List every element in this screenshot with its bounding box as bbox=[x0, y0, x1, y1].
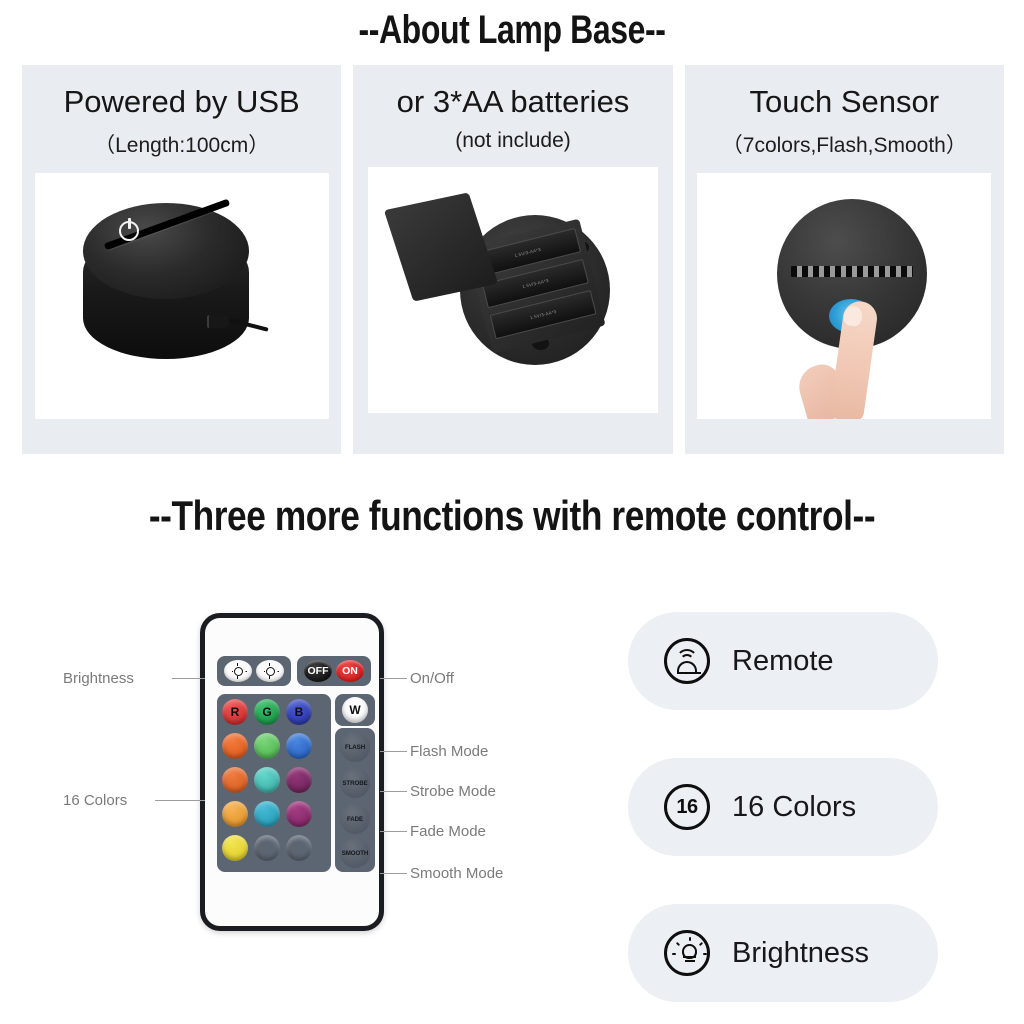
feature-pill-16-colors[interactable]: 16 16 Colors bbox=[628, 758, 938, 856]
panel-subtitle: （Length:100cm） bbox=[94, 129, 269, 159]
leader-line bbox=[172, 678, 205, 679]
color-button[interactable] bbox=[286, 767, 312, 793]
callout-strobe-mode: Strobe Mode bbox=[410, 783, 496, 800]
color-button-white[interactable]: W bbox=[342, 697, 368, 723]
panel-powered-by-usb: Powered by USB （Length:100cm） bbox=[22, 65, 341, 454]
led-strip bbox=[791, 266, 913, 277]
remote-control[interactable]: OFF ON R G B W FLASH STROBE FADE SMOOTH bbox=[200, 613, 384, 931]
feature-label: Remote bbox=[732, 645, 834, 678]
callout-on-off: On/Off bbox=[410, 670, 454, 687]
color-button[interactable] bbox=[222, 767, 248, 793]
panel-aa-batteries: or 3*AA batteries (not include) 1.5V/3-A… bbox=[353, 65, 672, 454]
page-title: --About Lamp Base-- bbox=[102, 8, 921, 53]
feature-pill-brightness[interactable]: Brightness bbox=[628, 904, 938, 1002]
leader-line bbox=[380, 873, 407, 874]
callout-fade-mode: Fade Mode bbox=[410, 823, 486, 840]
leader-line bbox=[380, 831, 407, 832]
usb-plug bbox=[207, 315, 229, 328]
section-title: --Three more functions with remote contr… bbox=[82, 492, 942, 540]
power-button-group: OFF ON bbox=[297, 656, 371, 686]
light-bulb-icon bbox=[664, 930, 710, 976]
flash-mode-button[interactable]: FLASH bbox=[340, 732, 370, 762]
color-button[interactable] bbox=[222, 835, 248, 861]
color-button[interactable] bbox=[286, 835, 312, 861]
lamp-base-touch-photo bbox=[697, 173, 991, 419]
lamp-base-panels: Powered by USB （Length:100cm） or 3*AA ba… bbox=[22, 65, 1004, 454]
callout-smooth-mode: Smooth Mode bbox=[410, 865, 503, 882]
feature-label: 16 Colors bbox=[732, 791, 856, 824]
lamp-base-battery-photo: 1.5V/3-AA*3 1.5V/3-AA*3 1.5V/3-AA*3 bbox=[368, 167, 658, 413]
remote-signal-icon bbox=[664, 638, 710, 684]
lamp-base-usb-photo bbox=[35, 173, 329, 419]
panel-title: or 3*AA batteries bbox=[397, 85, 630, 119]
color-button-red[interactable]: R bbox=[222, 699, 248, 725]
callout-16-colors: 16 Colors bbox=[63, 792, 127, 809]
power-button-icon bbox=[119, 221, 139, 241]
strobe-mode-button[interactable]: STROBE bbox=[340, 768, 370, 798]
brightness-up-button[interactable] bbox=[224, 660, 252, 682]
feature-label: Brightness bbox=[732, 937, 869, 970]
fade-mode-button[interactable]: FADE bbox=[340, 804, 370, 834]
leader-line bbox=[380, 678, 407, 679]
leader-line bbox=[380, 751, 407, 752]
leader-line bbox=[155, 800, 205, 801]
color-button[interactable] bbox=[222, 733, 248, 759]
white-button-group: W bbox=[335, 694, 375, 726]
color-button[interactable] bbox=[254, 767, 280, 793]
color-button-grid: R G B bbox=[217, 694, 331, 872]
panel-title: Touch Sensor bbox=[750, 85, 940, 119]
power-off-button[interactable]: OFF bbox=[304, 660, 332, 682]
panel-subtitle: （7colors,Flash,Smooth） bbox=[722, 129, 967, 159]
sixteen-badge-text: 16 bbox=[667, 787, 707, 827]
color-button[interactable] bbox=[286, 733, 312, 759]
feature-pill-remote[interactable]: Remote bbox=[628, 612, 938, 710]
power-on-button[interactable]: ON bbox=[336, 660, 364, 682]
color-button[interactable] bbox=[254, 835, 280, 861]
panel-title: Powered by USB bbox=[64, 85, 300, 119]
color-button[interactable] bbox=[254, 801, 280, 827]
color-button[interactable] bbox=[286, 801, 312, 827]
brightness-down-button[interactable] bbox=[256, 660, 284, 682]
mode-button-group: FLASH STROBE FADE SMOOTH bbox=[335, 728, 375, 872]
sixteen-circle-icon: 16 bbox=[664, 784, 710, 830]
lamp-base-top-surface bbox=[83, 203, 249, 299]
callout-brightness: Brightness bbox=[63, 670, 134, 687]
panel-subtitle: (not include) bbox=[455, 129, 571, 153]
brightness-button-group bbox=[217, 656, 291, 686]
brightness-up-icon bbox=[234, 667, 243, 676]
color-button-blue[interactable]: B bbox=[286, 699, 312, 725]
color-button[interactable] bbox=[254, 733, 280, 759]
callout-flash-mode: Flash Mode bbox=[410, 743, 488, 760]
color-button-green[interactable]: G bbox=[254, 699, 280, 725]
leader-line bbox=[380, 791, 407, 792]
color-button[interactable] bbox=[222, 801, 248, 827]
smooth-mode-button[interactable]: SMOOTH bbox=[340, 838, 370, 868]
panel-touch-sensor: Touch Sensor （7colors,Flash,Smooth） bbox=[685, 65, 1004, 454]
battery-cover bbox=[384, 192, 498, 301]
brightness-down-icon bbox=[266, 667, 275, 676]
